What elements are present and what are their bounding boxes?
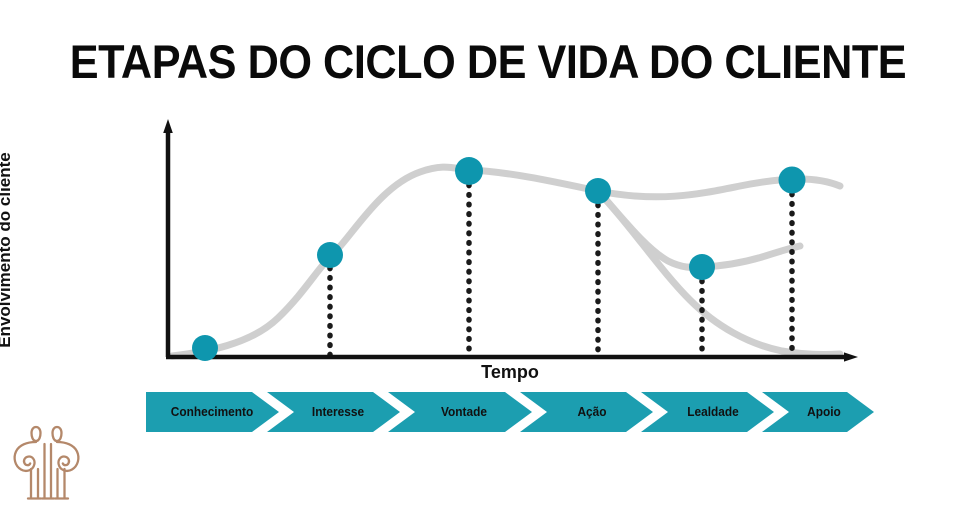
logo-right-volute [57,442,78,471]
stage-label-vontade[interactable]: Vontade [411,405,517,419]
stage-label-apoio[interactable]: Apoio [780,405,867,419]
infographic-root: ETAPAS DO CICLO DE VIDA DO CLIENTE [0,0,976,511]
logo-center-shaft [45,444,52,498]
logo-left-shaft [31,469,38,498]
stage-label-interesse[interactable]: Interesse [286,405,391,419]
ionic-columns-logo [12,424,86,502]
logo-left-top-loop [32,427,41,441]
logo-right-top-loop [53,427,62,441]
stage-label-lealdade[interactable]: Lealdade [663,405,764,419]
stage-band: Conhecimento Interesse Vontade Ação Leal… [0,0,976,511]
logo-right-shaft [58,469,65,498]
stage-label-conhecimento[interactable]: Conhecimento [155,405,269,419]
logo-left-volute [15,442,36,471]
stage-label-acao[interactable]: Ação [543,405,642,419]
